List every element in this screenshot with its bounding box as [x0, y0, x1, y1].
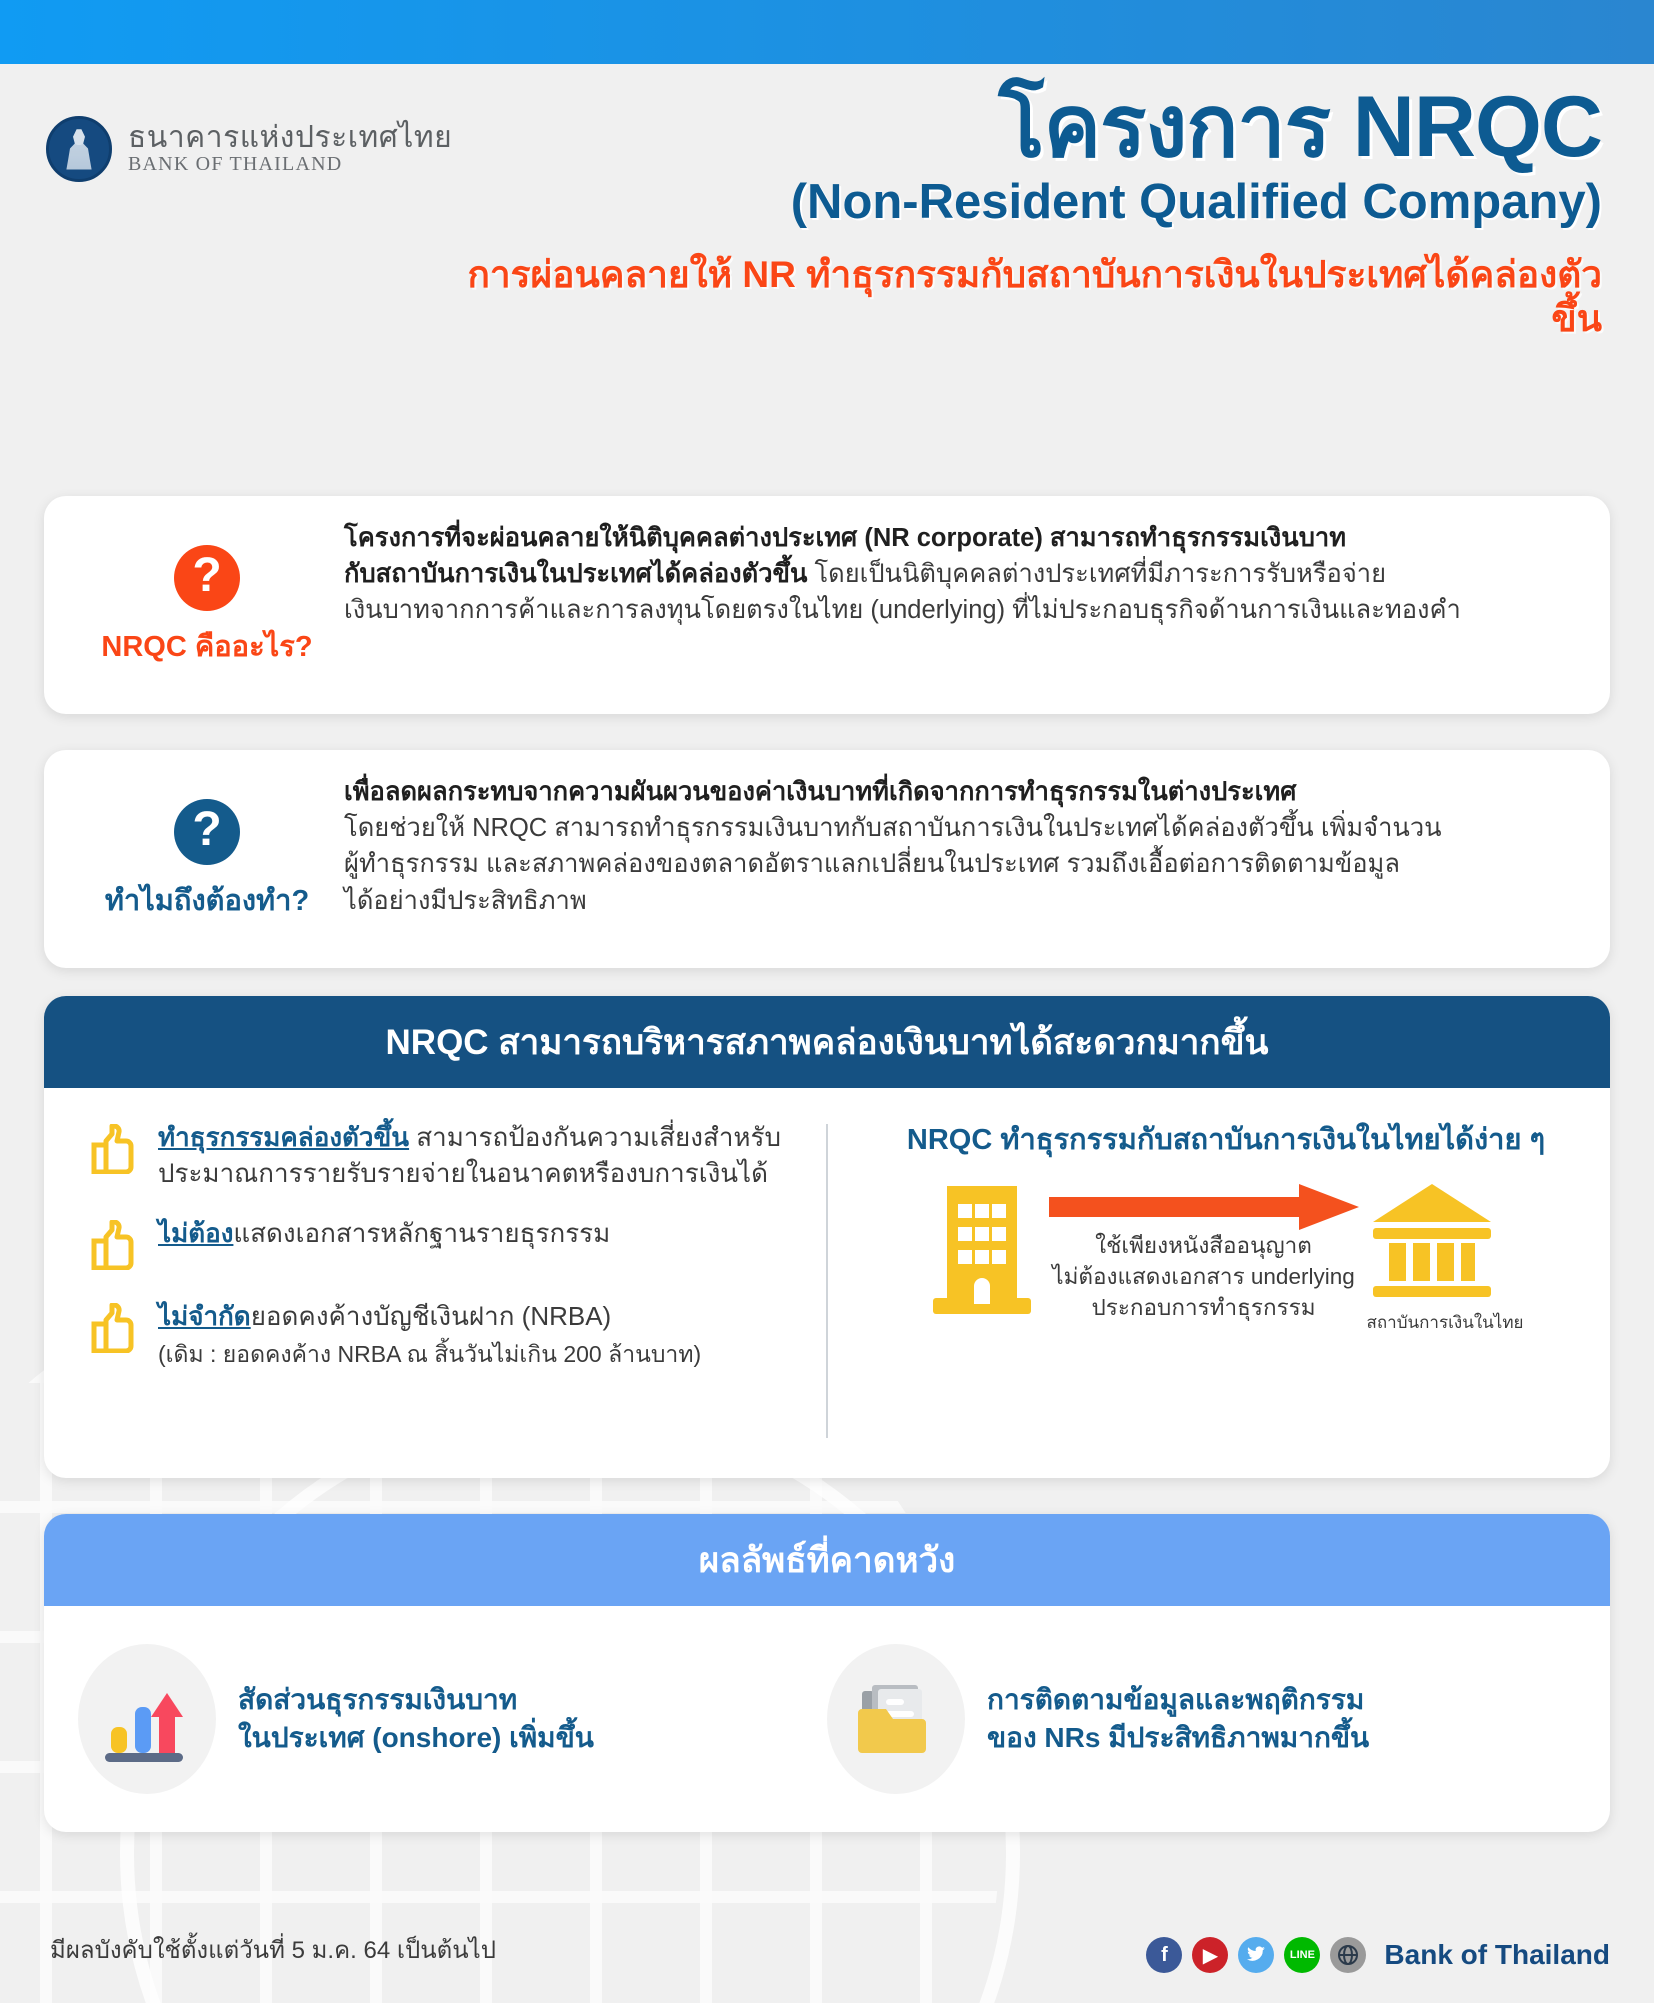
result-text-line: ในประเทศ (onshore) เพิ่มขึ้น: [238, 1719, 594, 1757]
youtube-icon[interactable]: ▶: [1192, 1937, 1228, 1973]
office-building-icon: [929, 1180, 1041, 1325]
text-line: เงินบาทจากการค้าและการลงทุนโดยตรงในไทย (…: [344, 592, 1580, 628]
card-why-nrqc: ? ทำไมถึงต้องทำ? เพื่อลดผลกระทบจากความผั…: [44, 750, 1610, 968]
list-item: ไม่จำกัดยอดคงค้างบัญชีเงินฝาก (NRBA) (เด…: [90, 1299, 816, 1371]
card-why-body: เพื่อลดผลกระทบจากความผันผวนของค่าเงินบาท…: [344, 772, 1580, 950]
plain-text: แสดงเอกสารหลักฐานรายธุรกรรม: [233, 1218, 610, 1248]
highlight-text: ทำธุรกรรมคล่องตัวขึ้น: [158, 1122, 409, 1152]
page-header: ธนาคารแห่งประเทศไทย BANK OF THAILAND โคร…: [0, 64, 1654, 484]
page-tagline: การผ่อนคลายให้ NR ทำธุรกรรมกับสถาบันการเ…: [422, 253, 1602, 342]
page-footer: มีผลบังคับใช้ตั้งแต่วันที่ 5 ม.ค. 64 เป็…: [0, 1883, 1654, 2003]
section-expected-results: ผลลัพธ์ที่คาดหวัง สัดส่วนธุรกรรมเงินบาท …: [44, 1514, 1610, 1832]
result-text: สัดส่วนธุรกรรมเงินบาท ในประเทศ (onshore)…: [238, 1681, 594, 1757]
result-text-line: การติดตามข้อมูลและพฤติกรรม: [987, 1681, 1369, 1719]
text-line: กับสถาบันการเงินในประเทศได้คล่องตัวขึ้น …: [344, 556, 1580, 592]
flow-title: NRQC ทำธุรกรรมกับสถาบันการเงินในไทยได้ง่…: [862, 1116, 1590, 1162]
text-line: โครงการที่จะผ่อนคลายให้นิติบุคคลต่างประเ…: [344, 520, 1580, 556]
flow-middle: ใช้เพียงหนังสืออนุญาต ไม่ต้องแสดงเอกสาร …: [1049, 1180, 1359, 1323]
thumbs-up-icon: [90, 1299, 138, 1371]
qa-icon-column: ? ทำไมถึงต้องทำ?: [70, 772, 344, 950]
bank-destination: สถาบันการเงินในไทย: [1367, 1180, 1524, 1336]
title-block: โครงการ NRQC (Non-Resident Qualified Com…: [422, 82, 1602, 342]
thumbs-up-icon: [90, 1120, 138, 1192]
section-manage-liquidity: NRQC สามารถบริหารสภาพคล่องเงินบาทได้สะดว…: [44, 996, 1610, 1478]
result-text-line: ของ NRs มีประสิทธิภาพมากขึ้น: [987, 1719, 1369, 1757]
text-line: โดยช่วยให้ NRQC สามารถทำธุรกรรมเงินบาทกั…: [344, 810, 1580, 846]
list-item-text: ไม่จำกัดยอดคงค้างบัญชีเงินฝาก (NRBA) (เด…: [158, 1299, 701, 1371]
section-result-heading: ผลลัพธ์ที่คาดหวัง: [699, 1533, 956, 1588]
top-accent-bar: [0, 0, 1654, 64]
benefit-list: ทำธุรกรรมคล่องตัวขึ้น สามารถป้องกันความเ…: [68, 1114, 816, 1468]
logo-name-th: ธนาคารแห่งประเทศไทย: [128, 122, 452, 153]
text-rest: เงินบาทจากการค้าและการลงทุนโดยตรงในไทย (…: [344, 596, 1461, 624]
bot-logo: ธนาคารแห่งประเทศไทย BANK OF THAILAND: [46, 116, 452, 182]
footer-social-bar: f ▶ LINE Bank of Thailand: [1146, 1937, 1610, 1973]
card-what-label: NRQC คืออะไร?: [101, 623, 312, 669]
footer-brand: Bank of Thailand: [1384, 1939, 1610, 1971]
flow-caption-line: ประกอบการทำธุรกรรม: [1049, 1292, 1359, 1323]
list-item: ไม่ต้องแสดงเอกสารหลักฐานรายธุรกรรม: [90, 1216, 816, 1275]
text-line: เพื่อลดผลกระทบจากความผันผวนของค่าเงินบาท…: [344, 774, 1580, 810]
bar-chart-up-arrow-icon: [78, 1644, 216, 1794]
facebook-icon[interactable]: f: [1146, 1937, 1182, 1973]
effective-date-note: มีผลบังคับใช้ตั้งแต่วันที่ 5 ม.ค. 64 เป็…: [50, 1930, 496, 1969]
right-arrow-icon: [1049, 1184, 1359, 1230]
plain-text: ยอดคงค้างบัญชีเงินฝาก (NRBA): [251, 1301, 612, 1331]
highlight-text: ไม่จำกัด: [158, 1301, 251, 1331]
thumbs-up-icon: [90, 1216, 138, 1275]
page-subtitle: (Non-Resident Qualified Company): [422, 175, 1602, 231]
bank-building-icon: [1367, 1180, 1524, 1305]
text-rest: โดยช่วยให้ NRQC สามารถทำธุรกรรมเงินบาทกั…: [344, 814, 1442, 842]
line-icon[interactable]: LINE: [1284, 1937, 1320, 1973]
highlight-text: ไม่ต้อง: [158, 1218, 233, 1248]
bank-caption: สถาบันการเงินในไทย: [1367, 1309, 1524, 1336]
section-manage-header: NRQC สามารถบริหารสภาพคล่องเงินบาทได้สะดว…: [44, 996, 1610, 1088]
vertical-divider: [826, 1124, 828, 1438]
card-what-body: โครงการที่จะผ่อนคลายให้นิติบุคคลต่างประเ…: [344, 518, 1580, 696]
text-line: ผู้ทำธุรกรรม และสภาพคล่องของตลาดอัตราแลก…: [344, 846, 1580, 882]
qa-icon-column: ? NRQC คืออะไร?: [70, 518, 344, 696]
flow-caption-line: ใช้เพียงหนังสืออนุญาต: [1049, 1230, 1359, 1261]
logo-name-en: BANK OF THAILAND: [128, 153, 452, 176]
question-mark-icon: ?: [174, 799, 240, 865]
text-rest: ผู้ทำธุรกรรม และสภาพคล่องของตลาดอัตราแลก…: [344, 850, 1400, 878]
website-globe-icon[interactable]: [1330, 1937, 1366, 1973]
card-why-label: ทำไมถึงต้องทำ?: [105, 877, 309, 923]
result-text-line: สัดส่วนธุรกรรมเงินบาท: [238, 1681, 594, 1719]
result-item-monitoring: การติดตามข้อมูลและพฤติกรรม ของ NRs มีประ…: [827, 1644, 1576, 1794]
section-result-header: ผลลัพธ์ที่คาดหวัง: [44, 1514, 1610, 1606]
list-item-text: ไม่ต้องแสดงเอกสารหลักฐานรายธุรกรรม: [158, 1216, 610, 1275]
bank-of-thailand-seal-icon: [46, 116, 112, 182]
infographic-page: ธนาคารแห่งประเทศไทย BANK OF THAILAND โคร…: [0, 0, 1654, 2003]
list-item-text: ทำธุรกรรมคล่องตัวขึ้น สามารถป้องกันความเ…: [158, 1120, 816, 1192]
text-bold: กับสถาบันการเงินในประเทศได้คล่องตัวขึ้น: [344, 560, 807, 588]
list-item: ทำธุรกรรมคล่องตัวขึ้น สามารถป้องกันความเ…: [90, 1120, 816, 1192]
twitter-icon[interactable]: [1238, 1937, 1274, 1973]
text-rest: ได้อย่างมีประสิทธิภาพ: [344, 887, 587, 915]
list-item-note: (เดิม : ยอดคงค้าง NRBA ณ สิ้นวันไม่เกิน …: [158, 1339, 701, 1371]
text-line: ได้อย่างมีประสิทธิภาพ: [344, 883, 1580, 919]
flow-diagram: NRQC ทำธุรกรรมกับสถาบันการเงินในไทยได้ง่…: [862, 1114, 1590, 1468]
flow-caption-line: ไม่ต้องแสดงเอกสาร underlying: [1049, 1261, 1359, 1292]
page-title: โครงการ NRQC: [422, 82, 1602, 173]
card-what-is-nrqc: ? NRQC คืออะไร? โครงการที่จะผ่อนคลายให้น…: [44, 496, 1610, 714]
result-item-onshore: สัดส่วนธุรกรรมเงินบาท ในประเทศ (onshore)…: [78, 1644, 827, 1794]
text-bold: โครงการที่จะผ่อนคลายให้นิติบุคคลต่างประเ…: [344, 524, 1346, 552]
question-mark-icon: ?: [174, 545, 240, 611]
folder-documents-icon: [827, 1644, 965, 1794]
result-text: การติดตามข้อมูลและพฤติกรรม ของ NRs มีประ…: [987, 1681, 1369, 1757]
text-bold: เพื่อลดผลกระทบจากความผันผวนของค่าเงินบาท…: [344, 778, 1296, 806]
section-manage-heading: NRQC สามารถบริหารสภาพคล่องเงินบาทได้สะดว…: [386, 1015, 1269, 1070]
text-rest: โดยเป็นนิติบุคคลต่างประเทศที่มีภาระการรั…: [807, 560, 1386, 588]
